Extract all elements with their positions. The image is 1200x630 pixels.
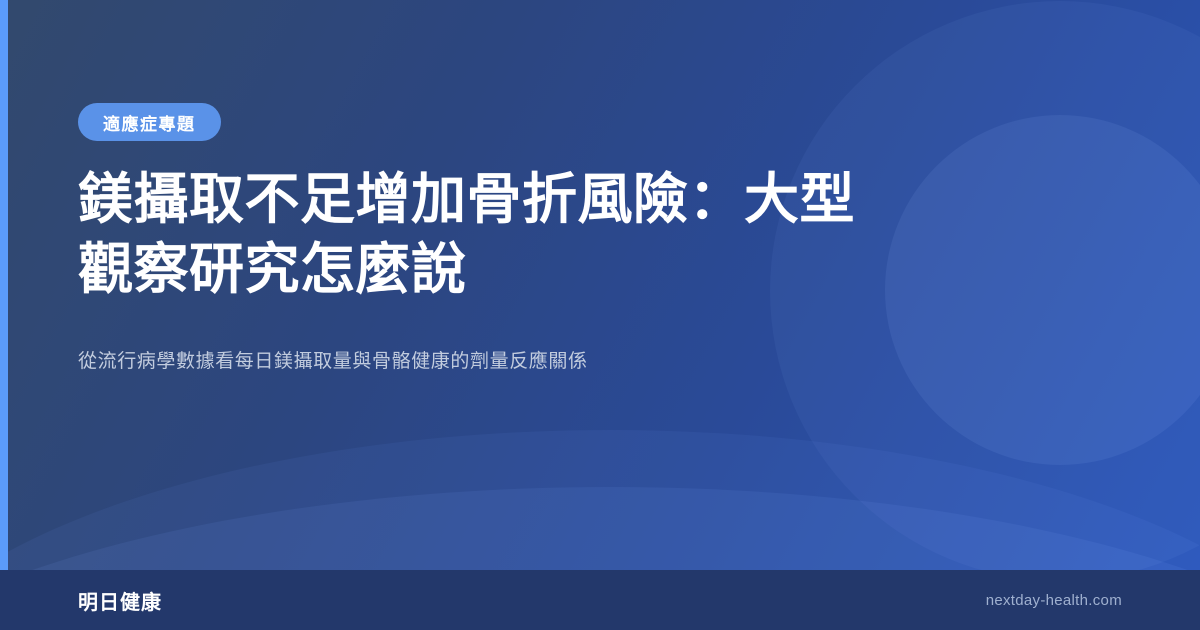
card-content: 適應症專題 鎂攝取不足增加骨折風險：大型 觀察研究怎麼說 從流行病學數據看每日鎂…	[0, 0, 1200, 570]
page-title: 鎂攝取不足增加骨折風險：大型 觀察研究怎麼說	[78, 164, 928, 305]
brand-name: 明日健康	[78, 586, 162, 615]
category-badge[interactable]: 適應症專題	[78, 103, 221, 141]
page-title-line-1: 鎂攝取不足增加骨折風險：大型	[78, 168, 855, 230]
site-url: nextday-health.com	[986, 592, 1122, 609]
card-footer: 明日健康 nextday-health.com	[0, 570, 1200, 630]
page-title-line-2: 觀察研究怎麼說	[78, 238, 467, 300]
social-share-card: 適應症專題 鎂攝取不足增加骨折風險：大型 觀察研究怎麼說 從流行病學數據看每日鎂…	[0, 0, 1200, 630]
page-subtitle: 從流行病學數據看每日鎂攝取量與骨骼健康的劑量反應關係	[78, 347, 938, 377]
